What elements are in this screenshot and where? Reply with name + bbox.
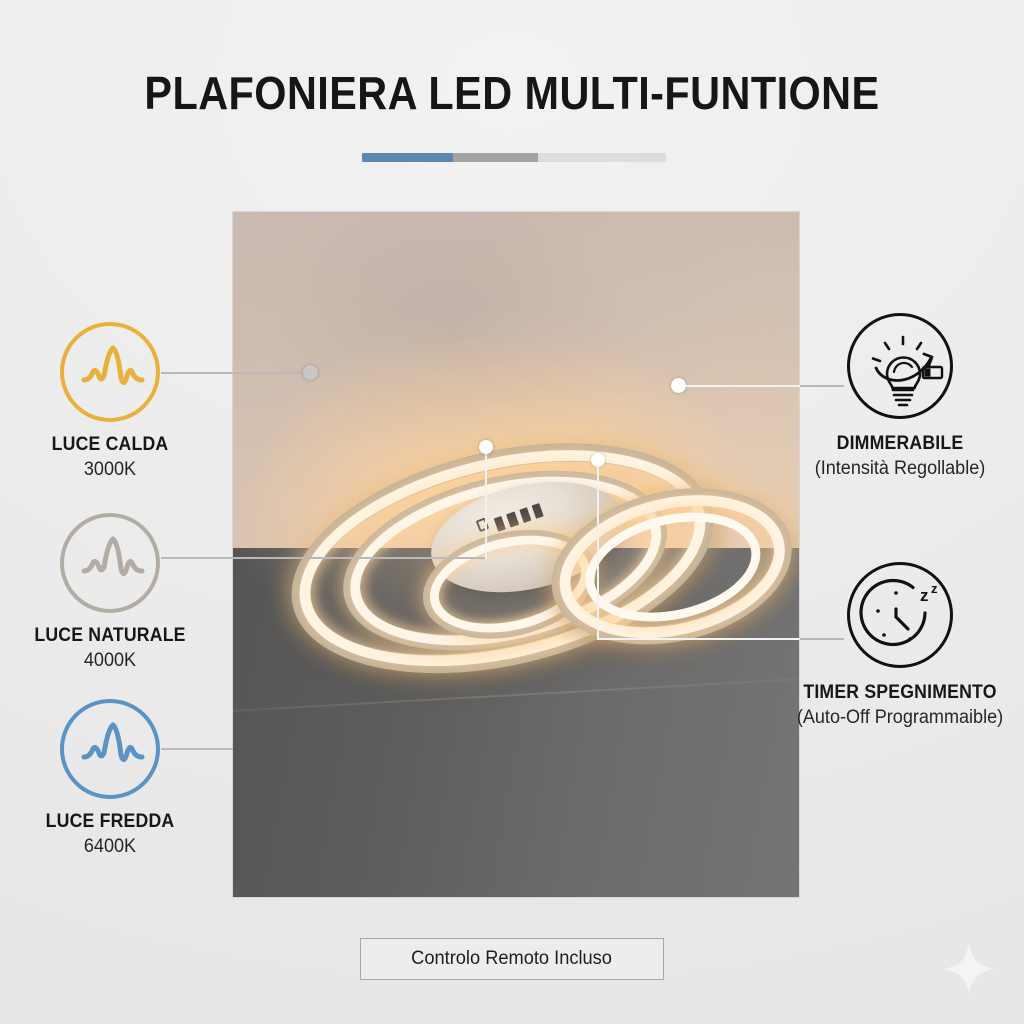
waveform-icon-natural [60, 513, 160, 613]
svg-text:z: z [931, 581, 938, 596]
feature-subtitle-luce-calda: 3000K [0, 459, 234, 481]
connector-line-luce-naturale-vertical [485, 448, 487, 559]
led-ceiling-lamp [232, 211, 800, 898]
feature-title-timer-spegnimento: TIMER SPEGNIMENTO [779, 682, 1021, 704]
feature-title-luce-fredda: LUCE FREDDA [0, 811, 231, 833]
feature-label-luce-naturale: LUCE NATURALE 4000K [0, 625, 240, 672]
feature-subtitle-luce-fredda: 6400K [0, 836, 234, 858]
connector-line-dimmerabile [800, 385, 844, 387]
feature-subtitle-luce-naturale: 4000K [0, 650, 234, 672]
progress-bar [362, 153, 666, 162]
product-photo [232, 211, 800, 898]
connector-line-timer-horizontal [800, 638, 844, 640]
remote-control-badge-label: Controlo Remoto Incluso [412, 948, 613, 970]
feature-subtitle-timer-spegnimento: (Auto-Off Programmaible) [777, 707, 1024, 729]
connector-dot-luce-naturale [479, 440, 493, 454]
waveform-icon-cold [60, 699, 160, 799]
progress-segment-3 [538, 153, 666, 162]
feature-label-luce-fredda: LUCE FREDDA 6400K [0, 811, 240, 858]
remote-control-badge[interactable]: Controlo Remoto Incluso [360, 938, 664, 980]
waveform-icon-warm [60, 322, 160, 422]
connector-line-luce-calda [161, 372, 311, 374]
connector-line-luce-naturale [161, 557, 487, 559]
feature-title-luce-naturale: LUCE NATURALE [0, 625, 231, 647]
connector-line-luce-fredda [161, 748, 233, 750]
feature-title-luce-calda: LUCE CALDA [0, 434, 231, 456]
feature-title-dimmerabile: DIMMERABILE [779, 433, 1021, 455]
sleep-timer-clock-icon: z z [847, 562, 953, 668]
dimmable-bulb-icon [847, 313, 953, 419]
progress-segment-2 [453, 153, 538, 162]
sparkle-icon [938, 938, 1000, 1005]
connector-dot-luce-calda [303, 365, 318, 380]
svg-text:z: z [920, 586, 929, 605]
page-title: PLAFONIERA LED MULTI-FUNTIONE [51, 66, 973, 120]
feature-label-dimmerabile: DIMMERABILE (Intensità Regollable) [770, 433, 1024, 480]
feature-subtitle-dimmerabile: (Intensità Regollable) [777, 458, 1024, 480]
feature-label-timer-spegnimento: TIMER SPEGNIMENTO (Auto-Off Programmaibl… [770, 682, 1024, 729]
connector-line-dimmerabile-white [686, 385, 800, 387]
connector-line-timer-vertical [597, 465, 599, 639]
connector-line-timer-horizontal-white [597, 638, 800, 640]
connector-dot-dimmerabile [671, 378, 686, 393]
progress-segment-1 [362, 153, 453, 162]
feature-label-luce-calda: LUCE CALDA 3000K [0, 434, 240, 481]
